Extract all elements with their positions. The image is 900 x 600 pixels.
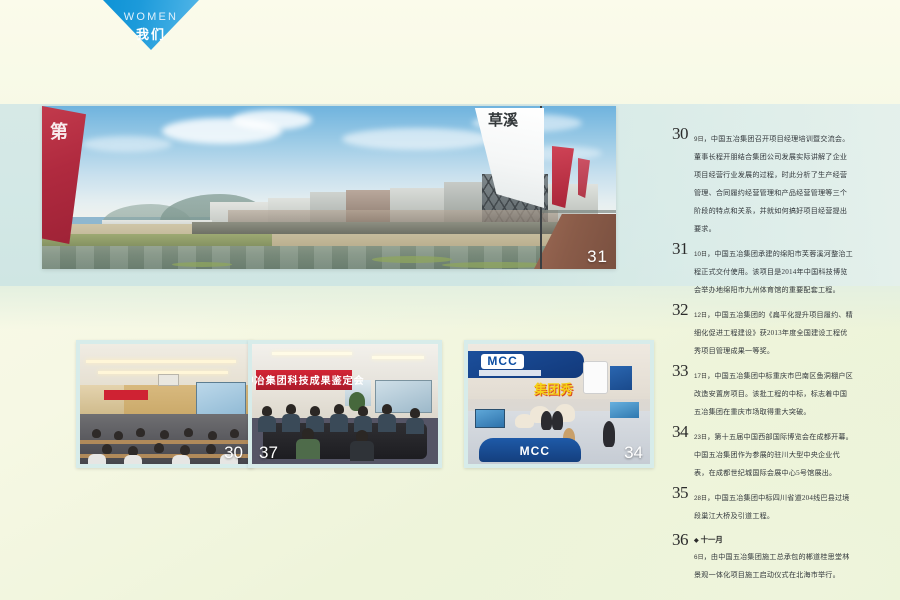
entry-number: 33: [672, 362, 688, 379]
visitor: [603, 421, 616, 447]
person-head: [410, 408, 420, 418]
projector: [158, 374, 179, 386]
cloud: [342, 128, 492, 150]
thumbnail-caption-number: 30: [224, 443, 243, 463]
person-body: [124, 455, 142, 464]
person-body: [258, 416, 276, 432]
white-flag-text: 草溪: [488, 114, 532, 129]
thumbnail-caption-number: 37: [259, 443, 278, 463]
red-banner-text: 中冶集团科技成果鉴定会: [252, 372, 365, 387]
section-banner: WOMEN 我们: [103, 0, 199, 50]
visitor: [541, 411, 552, 430]
ceiling-light: [86, 360, 236, 363]
person-body: [406, 418, 424, 434]
person-body: [330, 414, 348, 432]
booth-display-text: 集团秀: [534, 379, 573, 398]
entry-number: 32: [672, 301, 688, 318]
entry-date: 10日: [694, 251, 707, 258]
person-head: [136, 428, 145, 437]
person-head: [334, 404, 344, 414]
mcc-logo-text: MCC: [487, 354, 517, 368]
person-head: [262, 406, 272, 416]
person-head: [208, 431, 217, 440]
mcc-logo: MCC: [481, 354, 525, 370]
entry-text: ，中国五冶集团中标重庆市巴南区鱼洞棚户区改造安置房项目。该批工程的中标，标志着中…: [694, 372, 853, 416]
booth-counter: MCC: [479, 438, 581, 462]
person-body: [350, 441, 374, 461]
entry-date: 23日: [694, 434, 707, 441]
person-head: [358, 406, 368, 416]
blue-display-panel: [610, 366, 632, 390]
entry-31: 31 10日，中国五冶集团承建的绵阳市芙蓉溪河整治工程正式交付使用。该项目是20…: [672, 243, 854, 297]
visitor: [552, 411, 563, 430]
ceiling-light: [372, 356, 424, 359]
entry-number: 36: [672, 531, 688, 548]
thumbnail-auditorium: 30: [76, 340, 254, 468]
person-body: [378, 414, 396, 432]
monitor: [610, 402, 639, 419]
algae: [372, 256, 452, 263]
entry-34: 34 23日，第十五届中国西部国际博览会在成都开幕。中国五冶集团作为参展的驻川大…: [672, 426, 854, 480]
person-head: [286, 404, 296, 414]
entry-date: 9日: [694, 136, 704, 143]
monitor: [475, 409, 504, 428]
person-head: [206, 444, 216, 454]
photo-caption-number: 31: [587, 247, 608, 267]
entry-date: 17日: [694, 373, 707, 380]
red-banner: [104, 390, 148, 401]
banner-english-label: WOMEN: [103, 11, 199, 23]
thumbnail-booth: MCC 集团秀 MCC 34: [464, 340, 654, 468]
entry-number: 34: [672, 423, 688, 440]
thumbnail-image: 中冶集团科技成果鉴定会 37: [252, 344, 438, 464]
chronicle-text-column: 30 9日，中国五冶集团召开项目经理培训暨交流会。董事长程开朋结合集团公司发展实…: [672, 128, 854, 580]
red-banner: 中冶集团科技成果鉴定会: [256, 370, 353, 389]
person-head: [180, 445, 190, 455]
thumbnail-image: 30: [80, 344, 250, 464]
flag-emblem: 第: [50, 118, 76, 144]
person-head: [310, 406, 320, 416]
page-root: WOMEN 我们 第: [0, 0, 900, 600]
entry-date: 6日: [694, 554, 704, 561]
person-head: [114, 431, 123, 440]
thumbnail-image: MCC 集团秀 MCC 34: [468, 344, 650, 464]
entry-date: 28日: [694, 495, 707, 502]
entry-30: 30 9日，中国五冶集团召开项目经理培训暨交流会。董事长程开朋结合集团公司发展实…: [672, 128, 854, 236]
entry-35: 35 28日，中国五冶集团中标四川省道204线巴县过境段巢江大桥及引道工程。: [672, 487, 854, 523]
month-label: 十一月: [701, 535, 723, 544]
entry-number: 35: [672, 484, 688, 501]
booth-display-sign: 集团秀: [526, 380, 581, 397]
person-body: [296, 439, 320, 459]
person-body: [88, 454, 106, 464]
entry-text: ，由中国五冶集团施工总承包的郴道桂思堂林景观一体化项目施工启动仪式在北海市举行。: [694, 553, 850, 579]
entry-36: 36 ◆十一月 6日，由中国五冶集团施工总承包的郴道桂思堂林景观一体化项目施工启…: [672, 534, 854, 580]
entry-33: 33 17日，中国五冶集团中标重庆市巴南区鱼洞棚户区改造安置房项目。该批工程的中…: [672, 365, 854, 419]
entry-text: ，中国五冶集团中标四川省道204线巴县过境段巢江大桥及引道工程。: [694, 494, 850, 520]
cloud: [82, 136, 172, 152]
entry-number: 31: [672, 240, 688, 257]
month-marker: ◆十一月: [694, 534, 854, 545]
entry-text: ，中国五冶集团的《扁平化提升项目履约、精细化促进工程建设》获2013年度全国建设…: [694, 311, 853, 355]
person-head: [184, 428, 193, 437]
person-body: [172, 455, 190, 464]
algae: [172, 262, 232, 267]
white-display-panel: [583, 361, 609, 394]
company-name-strip: [479, 370, 541, 376]
person-head: [102, 444, 112, 454]
person-head: [92, 429, 101, 438]
person-head: [230, 429, 239, 438]
display-pod: [515, 414, 533, 428]
person-head: [382, 404, 392, 414]
entry-32: 32 12日，中国五冶集团的《扁平化提升项目履约、精细化促进工程建设》获2013…: [672, 304, 854, 358]
entry-date: 12日: [694, 312, 707, 319]
entry-text: ，第十五届中国西部国际博览会在成都开幕。中国五冶集团作为参展的驻川大型中央企业代…: [694, 433, 853, 477]
person-head: [160, 430, 169, 439]
entry-text: ，中国五冶集团召开项目经理培训暨交流会。董事长程开朋结合集团公司发展实际讲解了企…: [694, 135, 850, 233]
ceiling-light: [272, 352, 352, 355]
person-head: [154, 443, 164, 453]
panorama-photo: 第 草溪 31: [42, 106, 616, 269]
cloud: [232, 110, 312, 130]
person-body: [282, 414, 300, 432]
entry-text: ，中国五冶集团承建的绵阳市芙蓉溪河整治工程正式交付使用。该项目是2014年中国科…: [694, 250, 853, 294]
thumbnail-caption-number: 34: [624, 443, 643, 463]
banner-chinese-label: 我们: [103, 24, 199, 43]
counter-logo-text: MCC: [520, 444, 550, 458]
riverbank-upper: [192, 222, 616, 234]
entry-number: 30: [672, 128, 688, 142]
boardwalk-rail: [542, 210, 616, 213]
thumbnail-meeting: 中冶集团科技成果鉴定会 37: [248, 340, 442, 468]
diamond-icon: ◆: [694, 538, 699, 544]
